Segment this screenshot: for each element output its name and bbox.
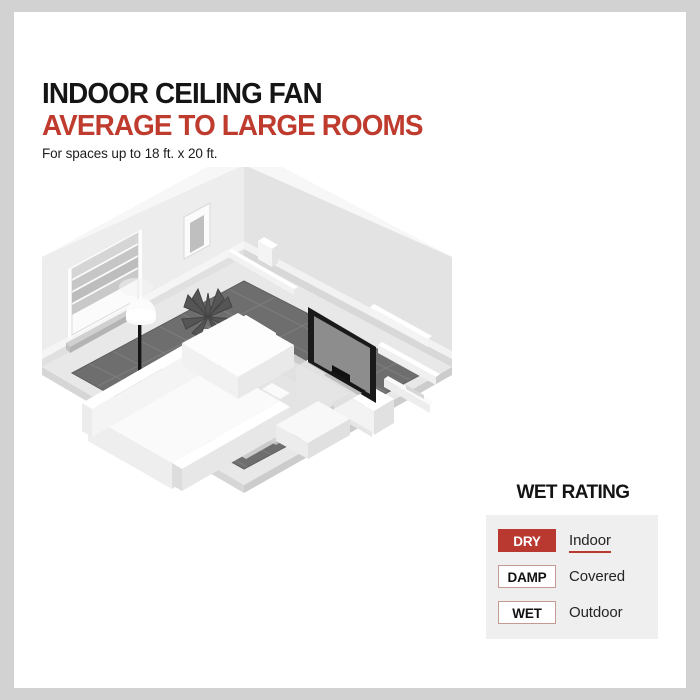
badge-dry[interactable]: DRY bbox=[498, 529, 556, 552]
wet-rating-legend: WET RATING DRY Indoor DAMP Covered WET O… bbox=[472, 482, 672, 639]
page-subtitle: AVERAGE TO LARGE ROOMS bbox=[42, 111, 580, 142]
room-svg bbox=[32, 167, 462, 597]
page-root: INDOOR CEILING FAN AVERAGE TO LARGE ROOM… bbox=[0, 0, 700, 700]
space-note: For spaces up to 18 ft. x 20 ft. bbox=[42, 146, 602, 161]
header-block: INDOOR CEILING FAN AVERAGE TO LARGE ROOM… bbox=[42, 80, 602, 161]
isometric-room-illustration bbox=[32, 167, 462, 597]
legend-row-dry[interactable]: DRY Indoor bbox=[486, 528, 658, 553]
legend-label-outdoor: Outdoor bbox=[569, 603, 623, 623]
badge-damp[interactable]: DAMP bbox=[498, 565, 556, 588]
legend-label-indoor: Indoor bbox=[569, 531, 611, 551]
badge-wet[interactable]: WET bbox=[498, 601, 556, 624]
legend-title: WET RATING bbox=[480, 482, 666, 504]
legend-label-covered: Covered bbox=[569, 567, 625, 587]
legend-row-wet[interactable]: WET Outdoor bbox=[486, 600, 658, 625]
page-title: INDOOR CEILING FAN bbox=[42, 80, 580, 110]
legend-panel: DRY Indoor DAMP Covered WET Outdoor bbox=[486, 515, 658, 639]
legend-row-damp[interactable]: DAMP Covered bbox=[486, 564, 658, 589]
content-canvas: INDOOR CEILING FAN AVERAGE TO LARGE ROOM… bbox=[14, 12, 686, 688]
